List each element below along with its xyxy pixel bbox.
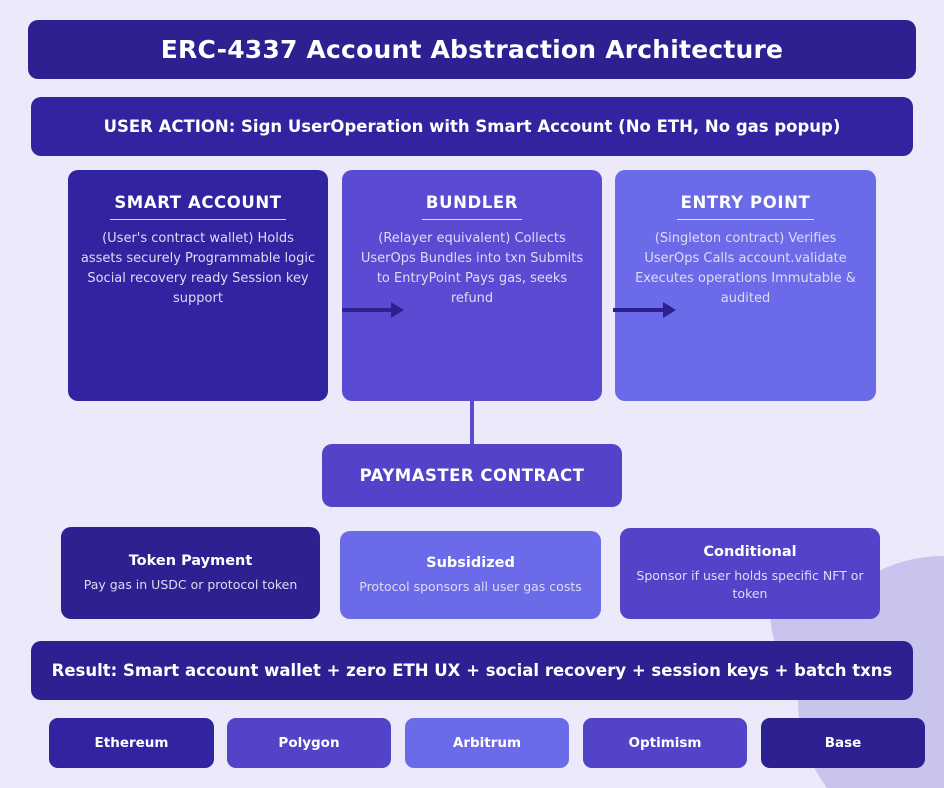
chain-label: Optimism: [628, 735, 701, 751]
paymaster-contract-label: PAYMASTER CONTRACT: [360, 466, 585, 485]
node-paymaster-contract: PAYMASTER CONTRACT: [322, 444, 622, 507]
diagram-title-banner: ERC-4337 Account Abstraction Architectur…: [28, 20, 916, 79]
chain-chip-ethereum: Ethereum: [49, 718, 214, 768]
entry-point-description: (Singleton contract) Verifies UserOps Ca…: [615, 229, 876, 309]
chain-chip-arbitrum: Arbitrum: [405, 718, 569, 768]
result-banner: Result: Smart account wallet + zero ETH …: [31, 641, 913, 700]
smart-account-description: (User's contract wallet) Holds assets se…: [68, 229, 328, 309]
bundler-title: BUNDLER: [422, 193, 522, 220]
arrow-head-icon: [391, 302, 404, 318]
chain-label: Ethereum: [95, 735, 169, 751]
card-token-payment: Token Payment Pay gas in USDC or protoco…: [61, 527, 320, 619]
token-payment-description: Pay gas in USDC or protocol token: [84, 576, 298, 594]
conditional-title: Conditional: [703, 544, 796, 560]
smart-account-title: SMART ACCOUNT: [110, 193, 285, 220]
chain-label: Base: [825, 735, 862, 751]
arrow-bundler-to-entry-point: [613, 303, 676, 317]
subsidized-description: Protocol sponsors all user gas costs: [359, 578, 582, 596]
node-smart-account: SMART ACCOUNT (User's contract wallet) H…: [68, 170, 328, 401]
chain-label: Polygon: [278, 735, 339, 751]
user-action-banner: USER ACTION: Sign UserOperation with Sma…: [31, 97, 913, 156]
bundler-description: (Relayer equivalent) Collects UserOps Bu…: [342, 229, 602, 309]
node-bundler: BUNDLER (Relayer equivalent) Collects Us…: [342, 170, 602, 401]
chain-chip-polygon: Polygon: [227, 718, 391, 768]
result-label: Result: Smart account wallet + zero ETH …: [52, 661, 893, 680]
connector-bundler-to-paymaster: [470, 401, 474, 444]
user-action-label: USER ACTION: Sign UserOperation with Sma…: [104, 117, 841, 136]
entry-point-title: ENTRY POINT: [677, 193, 815, 220]
arrow-shaft: [342, 308, 392, 312]
chain-chip-base: Base: [761, 718, 925, 768]
subsidized-title: Subsidized: [426, 555, 515, 571]
diagram-canvas: ERC-4337 Account Abstraction Architectur…: [0, 0, 944, 788]
chain-label: Arbitrum: [453, 735, 521, 751]
arrow-head-icon: [663, 302, 676, 318]
page-title: ERC-4337 Account Abstraction Architectur…: [161, 35, 783, 64]
node-entry-point: ENTRY POINT (Singleton contract) Verifie…: [615, 170, 876, 401]
card-subsidized: Subsidized Protocol sponsors all user ga…: [340, 531, 601, 619]
token-payment-title: Token Payment: [129, 553, 253, 569]
arrow-shaft: [613, 308, 664, 312]
conditional-description: Sponsor if user holds specific NFT or to…: [634, 567, 866, 603]
card-conditional: Conditional Sponsor if user holds specif…: [620, 528, 880, 619]
arrow-smart-account-to-bundler: [342, 303, 404, 317]
chain-chip-optimism: Optimism: [583, 718, 747, 768]
